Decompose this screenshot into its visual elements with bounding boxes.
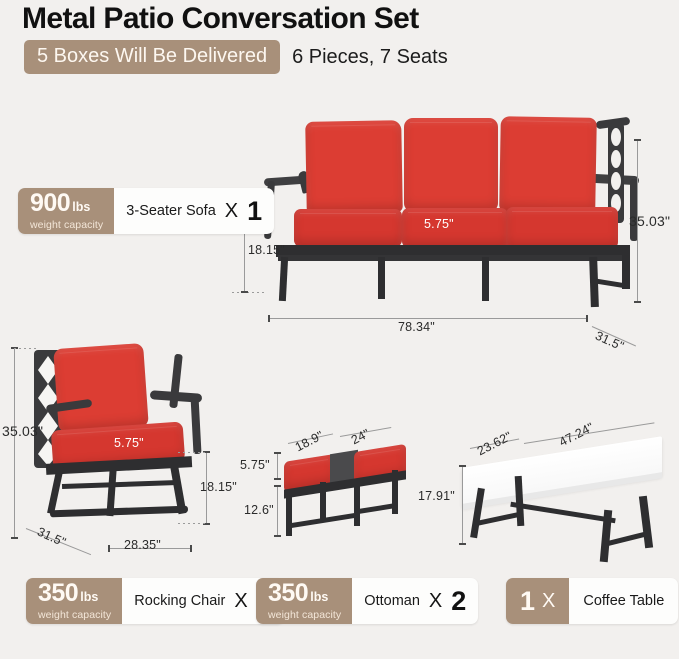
ottoman-frame-cap-bot	[274, 535, 281, 537]
sofa-back-cushion-3	[499, 116, 597, 213]
sofa-height-cap-bot	[634, 301, 641, 303]
sofa-item-name: 3-Seater Sofa	[126, 203, 215, 219]
sofa-item-section: 3-Seater Sofa X 1	[114, 188, 274, 234]
chair-cushion-thickness-label: 5.75"	[114, 436, 144, 450]
sofa-height-label: 35.03"	[629, 213, 670, 229]
coffee-table-illustration	[462, 440, 672, 550]
ottoman-cushion-line	[277, 453, 278, 479]
ottoman-illustration	[280, 448, 410, 548]
sofa-leg-mid-right	[482, 257, 489, 301]
ottoman-capacity-label: weight capacity	[268, 609, 341, 621]
sofa-seat-cushion-1	[294, 209, 402, 247]
pieces-seats-label: 6 Pieces, 7 Seats	[292, 46, 448, 69]
sofa-back-cushion-1	[305, 120, 403, 214]
ottoman-frame-height-line	[277, 486, 278, 536]
chair-height-cap-bot	[11, 537, 18, 539]
chair-back-cushion	[53, 343, 149, 433]
coffee-table-qty-section: 1 X	[506, 578, 569, 624]
coffee-table-badge: 1 X Coffee Table	[506, 578, 678, 624]
boxes-delivered-badge: 5 Boxes Will Be Delivered	[24, 40, 280, 74]
sofa-seat-cushion-2	[402, 208, 508, 248]
ottoman-cushion-cap-bot	[274, 478, 281, 480]
header-subrow: 5 Boxes Will Be Delivered 6 Pieces, 7 Se…	[24, 40, 448, 74]
chair-capacity-section: 350 lbs weight capacity	[26, 578, 122, 624]
chair-width-cap-left	[108, 545, 110, 552]
sofa-illustration: 5.75"	[250, 105, 650, 320]
chair-seat-height-ext-bot	[178, 523, 206, 524]
chair-seat-height-ext-top	[178, 452, 206, 453]
sofa-capacity-unit: lbs	[72, 201, 90, 214]
sofa-seat-cushion-3	[506, 207, 618, 249]
ottoman-width-label: 24"	[349, 426, 372, 447]
sofa-multiplier: X	[225, 200, 238, 223]
chair-rocker-cross-rail	[62, 480, 178, 489]
chair-item-name: Rocking Chair	[134, 593, 225, 609]
rocking-chair-badge: 350 lbs weight capacity Rocking Chair X …	[26, 578, 284, 624]
ottoman-cushion-cap-top	[274, 452, 281, 454]
sofa-seat-height-cap-bot	[241, 291, 248, 293]
rocking-chair-illustration: 5.75"	[22, 340, 222, 540]
ottoman-badge: 350 lbs weight capacity Ottoman X 2	[256, 578, 478, 624]
sofa-width-cap-left	[268, 315, 270, 322]
ottoman-capacity-section: 350 lbs weight capacity	[256, 578, 352, 624]
sofa-badge: 900 lbs weight capacity 3-Seater Sofa X …	[18, 188, 274, 234]
sofa-leg-front-left	[279, 257, 288, 301]
coffee-table-item-name: Coffee Table	[583, 593, 664, 609]
sofa-width-line	[268, 318, 588, 319]
ottoman-frame-height-label: 12.6"	[244, 503, 274, 517]
chair-rocker-base-rail	[50, 506, 188, 518]
ottoman-multiplier: X	[429, 590, 442, 613]
ottoman-cushion-thickness-label: 5.75"	[240, 458, 270, 472]
product-infographic: Metal Patio Conversation Set 5 Boxes Wil…	[0, 0, 679, 659]
chair-capacity-label: weight capacity	[38, 609, 111, 621]
coffee-table-height-label: 17.91"	[418, 489, 455, 503]
chair-height-label: 35.03"	[2, 423, 43, 439]
chair-width-label: 28.35"	[124, 538, 161, 552]
chair-right-arm-post	[190, 396, 201, 454]
chair-height-line	[14, 348, 15, 538]
ottoman-quantity: 2	[451, 586, 465, 617]
sofa-capacity-value: 900	[30, 191, 70, 216]
sofa-capacity-label: weight capacity	[30, 219, 103, 231]
sofa-width-cap-right	[586, 315, 588, 322]
ottoman-capacity-unit: lbs	[310, 591, 328, 604]
coffee-table-center-beam	[510, 502, 615, 524]
ottoman-frame-cap-top	[274, 485, 281, 487]
sofa-width-label: 78.34"	[398, 320, 435, 334]
sofa-height-cap-top	[634, 139, 641, 141]
sofa-back-cushion-2	[404, 118, 498, 212]
chair-capacity-value: 350	[38, 581, 78, 606]
ottoman-leg-front-left	[286, 492, 292, 536]
sofa-seat-height-ext-bot	[232, 292, 266, 293]
ottoman-leg-front-right	[354, 480, 360, 526]
ottoman-item-section: Ottoman X 2	[352, 578, 478, 624]
chair-width-cap-right	[190, 545, 192, 552]
sofa-capacity-section: 900 lbs weight capacity	[18, 188, 114, 234]
chair-height-ext-top	[14, 348, 38, 349]
chair-seat-height-label: 18.15"	[200, 480, 237, 494]
sofa-depth-label: 31.5"	[593, 329, 626, 354]
page-title: Metal Patio Conversation Set	[22, 2, 419, 36]
coffee-table-height-cap-bot	[459, 543, 466, 545]
sofa-leg-mid-left	[378, 257, 385, 299]
coffee-table-quantity: 1	[520, 586, 534, 617]
coffee-table-height-line	[462, 466, 463, 544]
sofa-front-rail	[278, 255, 626, 261]
chair-multiplier: X	[234, 590, 247, 613]
sofa-cushion-thickness-label: 5.75"	[424, 217, 454, 231]
coffee-table-stretcher-left	[478, 511, 522, 525]
coffee-table-item-section: Coffee Table	[569, 578, 678, 624]
sofa-quantity: 1	[247, 196, 261, 227]
sofa-seat-height-label: 18.15"	[248, 243, 285, 257]
ottoman-leg-back-left	[320, 482, 326, 522]
coffee-table-leg-back-right	[639, 496, 653, 549]
coffee-table-multiplier: X	[542, 590, 555, 613]
ottoman-capacity-value: 350	[268, 581, 308, 606]
coffee-table-height-cap-top	[459, 465, 466, 467]
ottoman-item-name: Ottoman	[364, 593, 420, 609]
chair-capacity-unit: lbs	[80, 591, 98, 604]
